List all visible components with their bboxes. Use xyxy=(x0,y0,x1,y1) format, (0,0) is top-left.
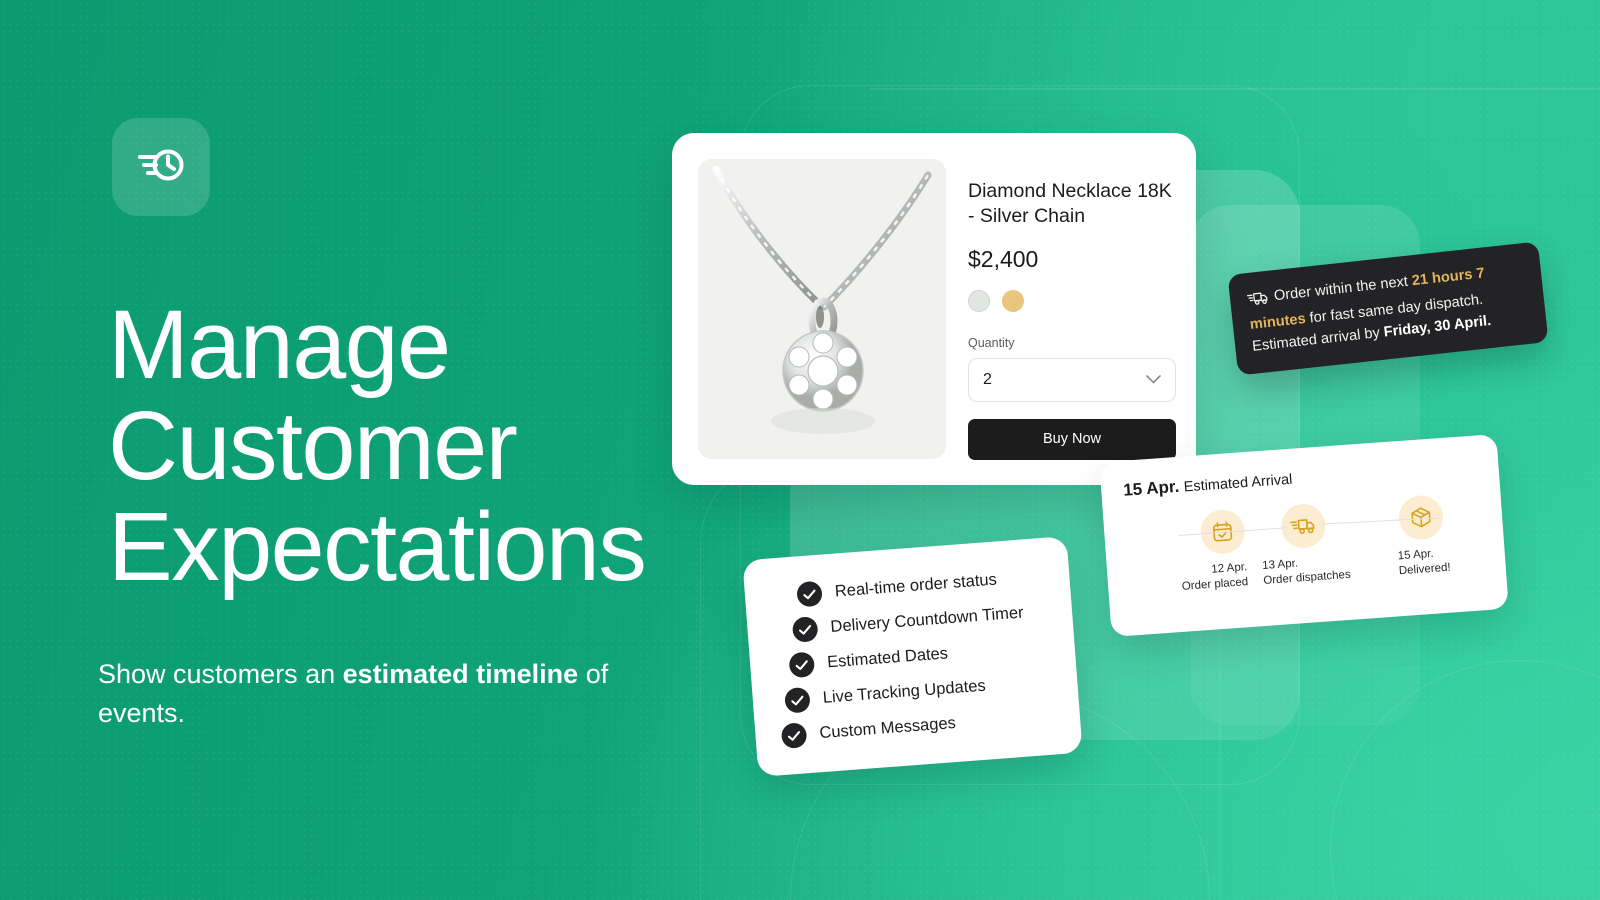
check-circle-icon xyxy=(788,651,815,678)
product-price: $2,400 xyxy=(968,246,1176,273)
product-details: Diamond Necklace 18K - Silver Chain $2,4… xyxy=(946,159,1176,459)
product-title: Diamond Necklace 18K - Silver Chain xyxy=(968,179,1176,230)
check-circle-icon xyxy=(784,687,811,714)
shipping-clock-icon xyxy=(134,142,188,193)
check-circle-icon xyxy=(796,581,823,608)
timeline-step-label: 12 Apr. Order placed xyxy=(1180,560,1248,595)
checklist-label: Real-time order status xyxy=(834,570,997,601)
timeline-step-label: 15 Apr. Delivered! xyxy=(1397,546,1451,580)
timeline-step-delivered: 15 Apr. Delivered! xyxy=(1361,491,1485,581)
quantity-select[interactable]: 2 xyxy=(968,358,1176,402)
buy-now-button[interactable]: Buy Now xyxy=(968,419,1176,460)
delivery-truck-icon xyxy=(1280,503,1327,550)
feature-checklist-card: Real-time order status Delivery Countdow… xyxy=(742,536,1082,777)
hero-subtitle: Show customers an estimated timeline of … xyxy=(98,655,618,733)
hero-left-column: Manage Customer Expectations Show custom… xyxy=(0,0,720,900)
timeline-step-label: 13 Apr. Order dispatches xyxy=(1262,553,1351,589)
check-circle-icon xyxy=(792,616,819,643)
checklist-label: Delivery Countdown Timer xyxy=(830,604,1024,637)
decorative-line xyxy=(870,88,1600,90)
swatch-silver[interactable] xyxy=(968,290,990,312)
check-circle-icon xyxy=(781,722,808,749)
timeline-headline-date: 15 Apr. xyxy=(1123,477,1180,500)
headline-line-3: Expectations xyxy=(108,497,748,598)
subtitle-bold: estimated timeline xyxy=(343,659,579,689)
quantity-value: 2 xyxy=(983,371,992,389)
timeline-headline: 15 Apr. Estimated Arrival xyxy=(1123,456,1478,501)
dispatch-text-part1: Order within the next xyxy=(1273,273,1413,304)
product-image xyxy=(698,159,946,459)
headline-line-1: Manage xyxy=(108,295,748,396)
checklist-label: Live Tracking Updates xyxy=(822,677,986,708)
timeline-step-text: Delivered! xyxy=(1398,561,1451,580)
product-card: Diamond Necklace 18K - Silver Chain $2,4… xyxy=(672,133,1196,485)
brand-logo xyxy=(112,118,210,216)
delivery-truck-icon xyxy=(1246,289,1270,314)
dispatch-arrival-date: Friday, 30 April. xyxy=(1383,313,1492,341)
timeline-steps: 12 Apr. Order placed 13 Apr. Order dispa… xyxy=(1125,491,1484,598)
quantity-label: Quantity xyxy=(968,336,1176,350)
timeline-step-order-dispatches: 13 Apr. Order dispatches xyxy=(1243,500,1367,590)
subtitle-prefix: Show customers an xyxy=(98,659,343,689)
timeline-headline-text: Estimated Arrival xyxy=(1183,472,1293,496)
chevron-down-icon xyxy=(1146,371,1161,389)
checklist-label: Custom Messages xyxy=(819,714,957,743)
color-swatch-group[interactable] xyxy=(968,290,1176,312)
page-title: Manage Customer Expectations xyxy=(108,295,748,598)
headline-line-2: Customer xyxy=(108,396,748,497)
checklist-label: Estimated Dates xyxy=(827,644,949,672)
swatch-gold[interactable] xyxy=(1002,290,1024,312)
timeline-step-order-placed: 12 Apr. Order placed xyxy=(1125,508,1249,598)
delivery-timeline-card: 15 Apr. Estimated Arrival 12 Apr. Order … xyxy=(1099,434,1508,637)
